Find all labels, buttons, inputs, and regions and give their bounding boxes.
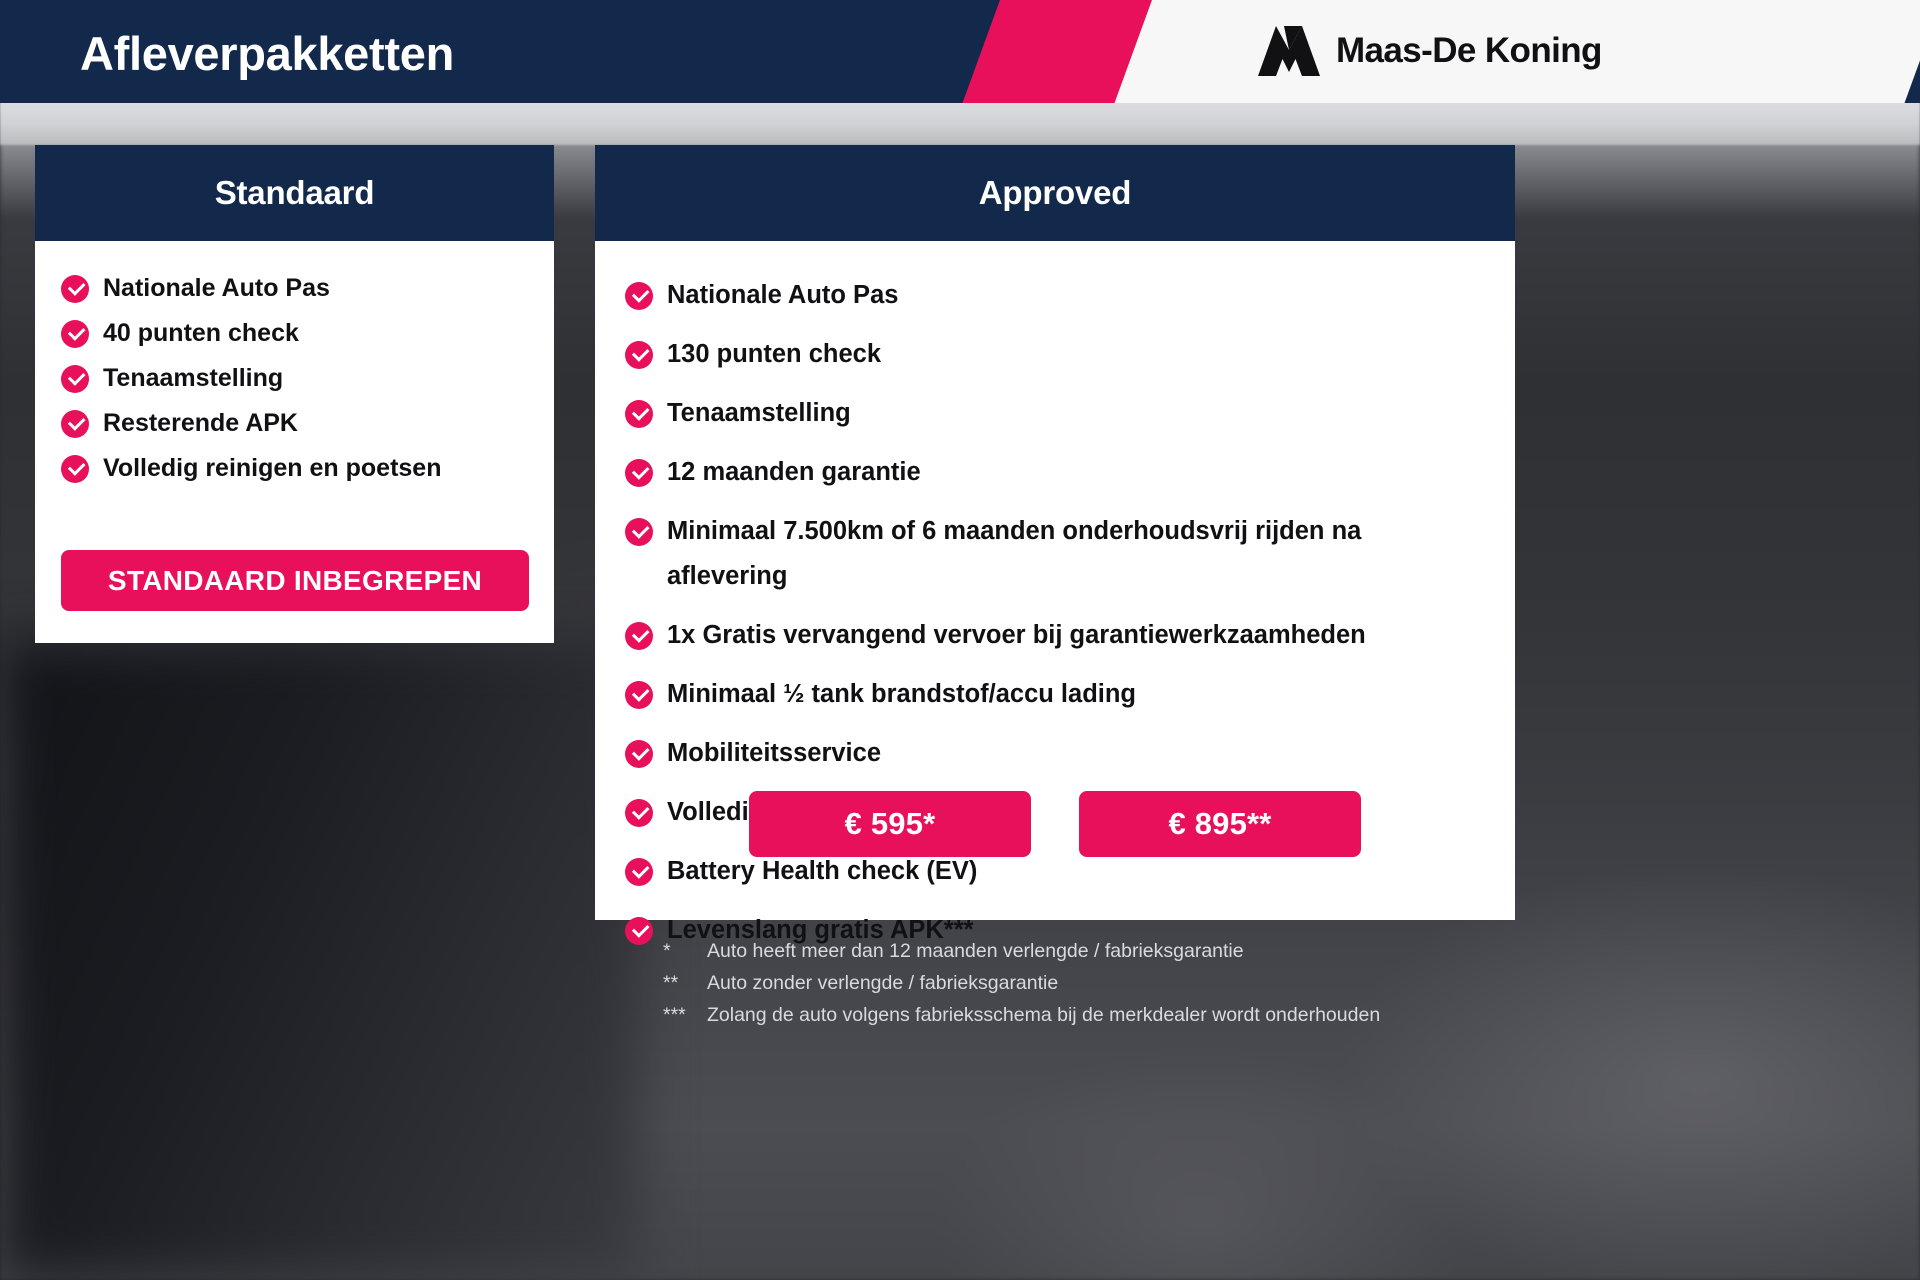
feature-label: 12 maanden garantie [667, 450, 921, 495]
maas-de-koning-m-logo-icon [1258, 26, 1320, 76]
feature-label: Nationale Auto Pas [103, 273, 330, 304]
brand-name: Maas-De Koning [1336, 31, 1602, 71]
feature-label: Nationale Auto Pas [667, 273, 898, 318]
list-item: Minimaal 7.500km of 6 maanden onderhouds… [625, 509, 1515, 599]
check-circle-icon [625, 282, 653, 310]
footnote-marker: ** [663, 967, 707, 999]
list-item: 1x Gratis vervangend vervoer bij garanti… [625, 613, 1515, 658]
feature-label: Mobiliteitsservice [667, 731, 881, 776]
footnotes: * Auto heeft meer dan 12 maanden verleng… [663, 935, 1380, 1031]
check-circle-icon [625, 400, 653, 428]
feature-label: 1x Gratis vervangend vervoer bij garanti… [667, 613, 1366, 658]
brand-logo: Maas-De Koning [1258, 26, 1602, 76]
list-item: Nationale Auto Pas [625, 273, 1515, 318]
feature-label: Tenaamstelling [103, 363, 283, 394]
footnote-text: Auto zonder verlengde / fabrieksgarantie [707, 967, 1058, 999]
background-photo-dark-region [0, 640, 640, 1280]
feature-label: 130 punten check [667, 332, 881, 377]
list-item: Tenaamstelling [61, 363, 554, 394]
check-circle-icon [61, 410, 89, 438]
footnote-marker: * [663, 935, 707, 967]
page-title: Afleverpakketten [80, 26, 454, 81]
price-button-595[interactable]: € 595* [749, 791, 1031, 857]
list-item: 130 punten check [625, 332, 1515, 377]
check-circle-icon [61, 275, 89, 303]
feature-label: Minimaal 7.500km of 6 maanden onderhouds… [667, 509, 1367, 599]
standaard-included-button[interactable]: STANDAARD INBEGREPEN [61, 550, 529, 611]
check-circle-icon [625, 459, 653, 487]
list-item: Minimaal ½ tank brandstof/accu lading [625, 672, 1515, 717]
footnote-text: Zolang de auto volgens fabrieksschema bi… [707, 999, 1380, 1031]
card-body-approved: Nationale Auto Pas 130 punten check Tena… [595, 273, 1515, 953]
footnote-row: * Auto heeft meer dan 12 maanden verleng… [663, 935, 1380, 967]
feature-label: Minimaal ½ tank brandstof/accu lading [667, 672, 1136, 717]
card-title-approved: Approved [979, 174, 1131, 212]
page-header: Afleverpakketten [0, 0, 1920, 103]
list-item: Volledig reinigen en poetsen [61, 453, 554, 484]
check-circle-icon [625, 917, 653, 945]
feature-label: Tenaamstelling [667, 391, 851, 436]
package-card-approved: Approved Nationale Auto Pas 130 punten c… [595, 145, 1515, 920]
price-button-row: € 595* € 895** [595, 791, 1515, 857]
price-button-895[interactable]: € 895** [1079, 791, 1361, 857]
check-circle-icon [61, 455, 89, 483]
card-header-approved: Approved [595, 145, 1515, 241]
card-body-standaard: Nationale Auto Pas 40 punten check Tenaa… [35, 273, 554, 484]
list-item: Tenaamstelling [625, 391, 1515, 436]
check-circle-icon [61, 365, 89, 393]
check-circle-icon [625, 858, 653, 886]
check-circle-icon [625, 740, 653, 768]
background-photo-light-strip [0, 100, 1920, 145]
check-circle-icon [625, 518, 653, 546]
feature-label: Resterende APK [103, 408, 298, 439]
card-title-standaard: Standaard [215, 174, 375, 212]
list-item: Mobiliteitsservice [625, 731, 1515, 776]
check-circle-icon [625, 622, 653, 650]
list-item: 12 maanden garantie [625, 450, 1515, 495]
footnote-row: ** Auto zonder verlengde / fabrieksgaran… [663, 967, 1380, 999]
footnote-text: Auto heeft meer dan 12 maanden verlengde… [707, 935, 1244, 967]
card-header-standaard: Standaard [35, 145, 554, 241]
check-circle-icon [625, 681, 653, 709]
check-circle-icon [625, 341, 653, 369]
package-card-standaard: Standaard Nationale Auto Pas 40 punten c… [35, 145, 554, 643]
list-item: Nationale Auto Pas [61, 273, 554, 304]
check-circle-icon [61, 320, 89, 348]
feature-label: Volledig reinigen en poetsen [103, 453, 441, 484]
footnote-marker: *** [663, 999, 707, 1031]
feature-list-standaard: Nationale Auto Pas 40 punten check Tenaa… [61, 273, 554, 484]
footnote-row: *** Zolang de auto volgens fabrieksschem… [663, 999, 1380, 1031]
list-item: 40 punten check [61, 318, 554, 349]
list-item: Resterende APK [61, 408, 554, 439]
feature-label: 40 punten check [103, 318, 299, 349]
